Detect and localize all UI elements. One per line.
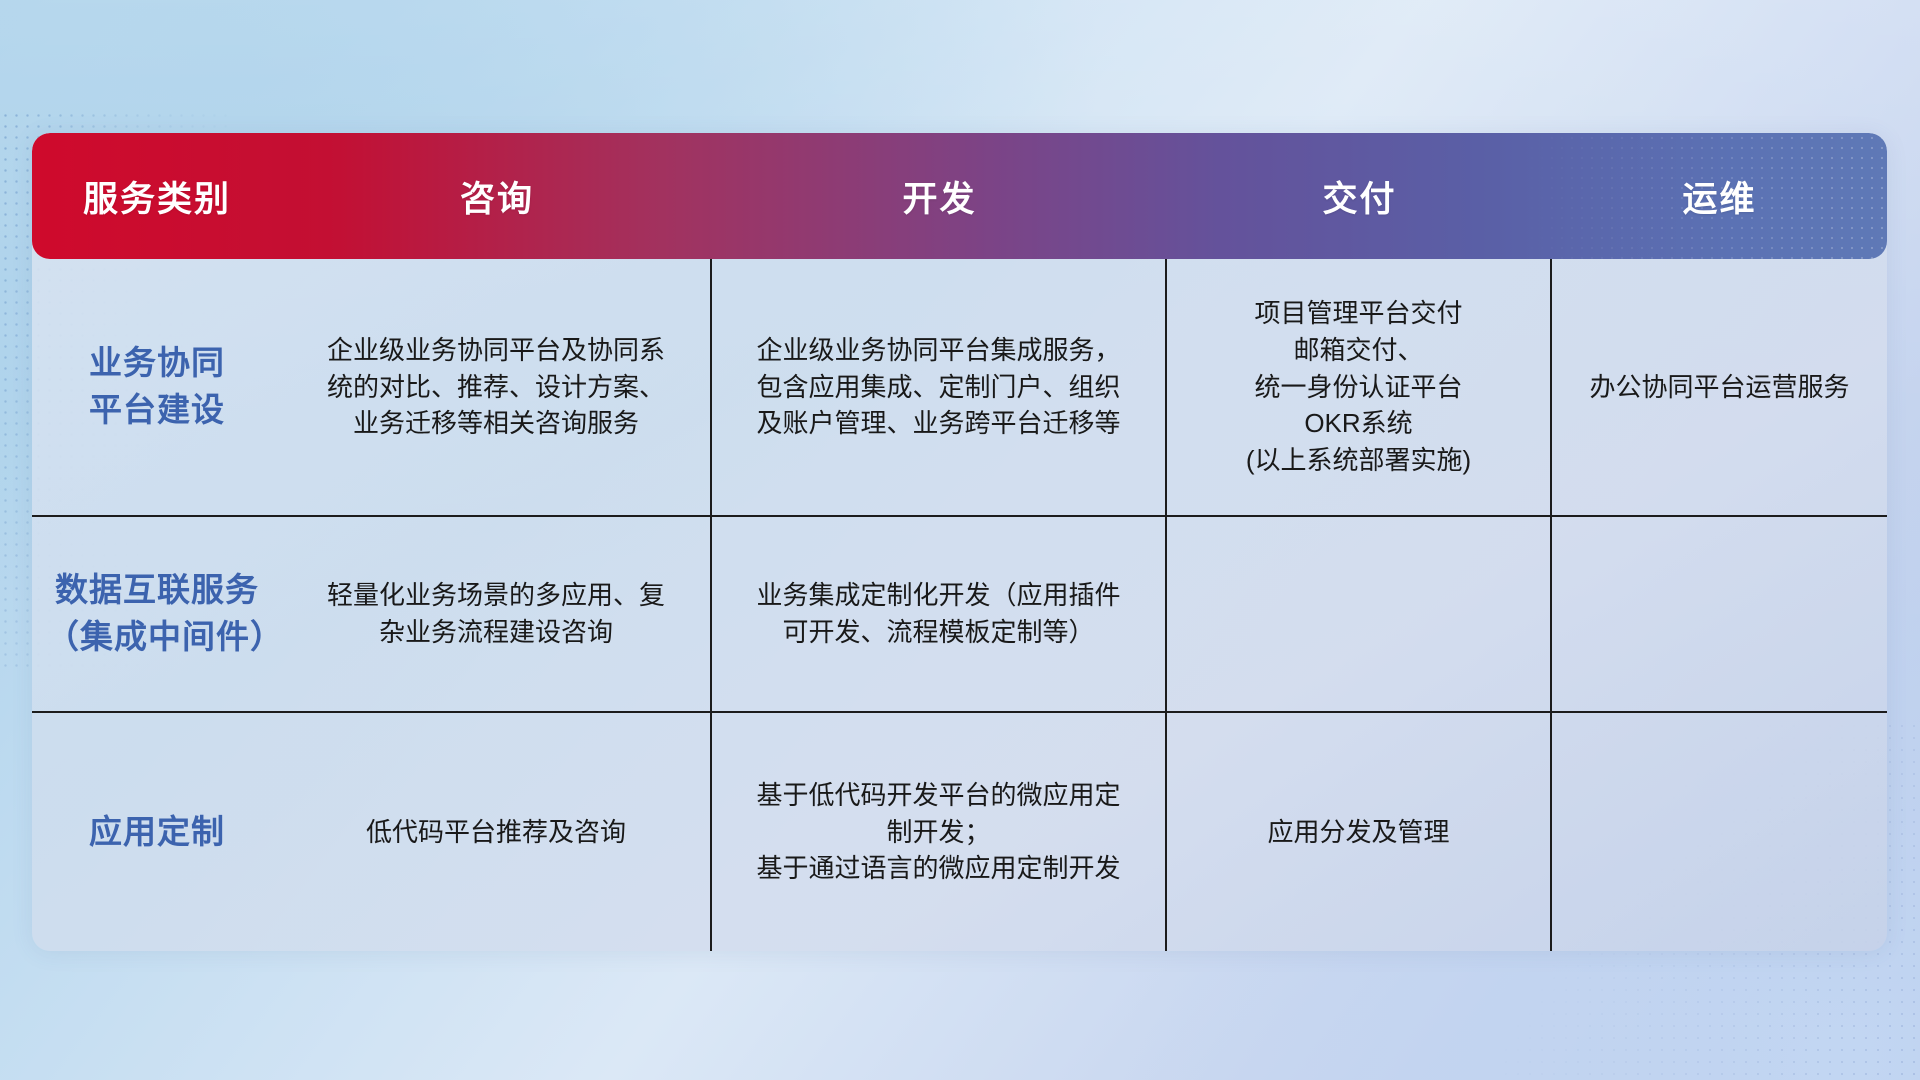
cell-text: 业务集成定制化开发（应用插件 可开发、流程模板定制等） xyxy=(756,577,1120,651)
row-operations-cell: 办公协同平台运营服务 xyxy=(1552,259,1887,515)
row-category-cell: 数据互联服务 （集成中间件） xyxy=(32,517,282,711)
cell-text: 低代码平台推荐及咨询 xyxy=(366,814,626,851)
row-category-cell: 应用定制 xyxy=(32,713,282,951)
row-consulting-cell: 企业级业务协同平台及协同系 统的对比、推荐、设计方案、 业务迁移等相关咨询服务 xyxy=(282,259,712,515)
header-cell-delivery: 交付 xyxy=(1167,171,1552,222)
category-label: 业务协同 平台建设 xyxy=(89,340,225,434)
row-development-cell: 基于低代码开发平台的微应用定 制开发； 基于通过语言的微应用定制开发 xyxy=(712,713,1167,951)
table-row: 应用定制 低代码平台推荐及咨询 基于低代码开发平台的微应用定 制开发； 基于通过… xyxy=(32,713,1887,951)
header-cell-service-category: 服务类别 xyxy=(32,171,282,222)
row-consulting-cell: 低代码平台推荐及咨询 xyxy=(282,713,712,951)
row-delivery-cell xyxy=(1167,517,1552,711)
cell-text: 应用分发及管理 xyxy=(1267,814,1449,851)
cell-text: 企业级业务协同平台集成服务， 包含应用集成、定制门户、组织 及账户管理、业务跨平… xyxy=(756,332,1120,443)
cell-text: 基于低代码开发平台的微应用定 制开发； 基于通过语言的微应用定制开发 xyxy=(756,777,1120,888)
row-category-cell: 业务协同 平台建设 xyxy=(32,259,282,515)
table-header-row: 服务类别 咨询 开发 交付 运维 xyxy=(32,133,1887,259)
header-cell-operations: 运维 xyxy=(1552,171,1887,222)
cell-text: 轻量化业务场景的多应用、复 杂业务流程建设咨询 xyxy=(327,577,665,651)
header-cell-consulting: 咨询 xyxy=(282,171,712,222)
table-row: 业务协同 平台建设 企业级业务协同平台及协同系 统的对比、推荐、设计方案、 业务… xyxy=(32,259,1887,517)
cell-text: 企业级业务协同平台及协同系 统的对比、推荐、设计方案、 业务迁移等相关咨询服务 xyxy=(327,332,665,443)
service-matrix-table: 服务类别 咨询 开发 交付 运维 业务协同 平台建设 企业级业务协同平台及协同系… xyxy=(32,133,1887,951)
table-body: 业务协同 平台建设 企业级业务协同平台及协同系 统的对比、推荐、设计方案、 业务… xyxy=(32,259,1887,951)
row-development-cell: 业务集成定制化开发（应用插件 可开发、流程模板定制等） xyxy=(712,517,1167,711)
row-consulting-cell: 轻量化业务场景的多应用、复 杂业务流程建设咨询 xyxy=(282,517,712,711)
header-cell-development: 开发 xyxy=(712,171,1167,222)
category-label: 应用定制 xyxy=(89,809,225,856)
row-operations-cell xyxy=(1552,713,1887,951)
cell-text: 办公协同平台运营服务 xyxy=(1589,369,1849,406)
table-row: 数据互联服务 （集成中间件） 轻量化业务场景的多应用、复 杂业务流程建设咨询 业… xyxy=(32,517,1887,713)
cell-text: 项目管理平台交付 邮箱交付、 统一身份认证平台 OKR系统 (以上系统部署实施) xyxy=(1246,295,1471,480)
row-operations-cell xyxy=(1552,517,1887,711)
row-development-cell: 企业级业务协同平台集成服务， 包含应用集成、定制门户、组织 及账户管理、业务跨平… xyxy=(712,259,1167,515)
category-label: 数据互联服务 （集成中间件） xyxy=(46,567,268,661)
row-delivery-cell: 应用分发及管理 xyxy=(1167,713,1552,951)
row-delivery-cell: 项目管理平台交付 邮箱交付、 统一身份认证平台 OKR系统 (以上系统部署实施) xyxy=(1167,259,1552,515)
